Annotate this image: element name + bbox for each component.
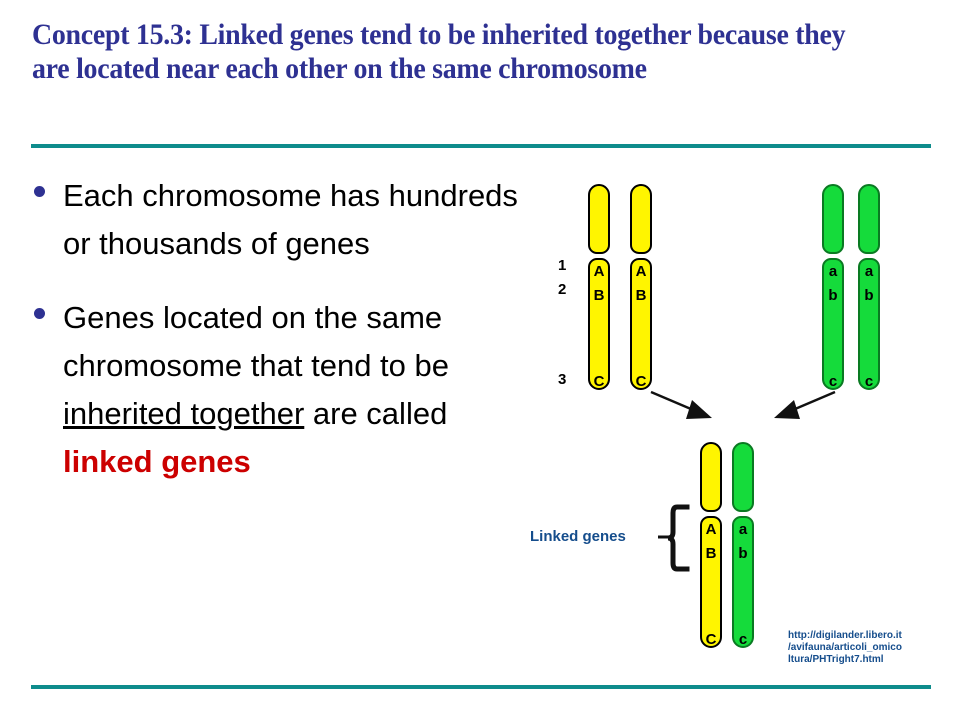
- bullet-dot-icon: [34, 186, 45, 197]
- position-number-3: 3: [558, 372, 566, 387]
- gene-label-C: C: [588, 374, 610, 389]
- gene-label-a: a: [732, 522, 754, 537]
- list-item: Genes located on the same chromosome tha…: [28, 294, 518, 486]
- list-item: Each chromosome has hundreds or thousand…: [28, 172, 518, 268]
- chromosome-short-arm: [700, 442, 722, 512]
- gene-label-b: b: [822, 288, 844, 303]
- bullet-2-text: Genes located on the same chromosome tha…: [63, 300, 449, 479]
- chromosome-short-arm: [630, 184, 652, 254]
- gene-label-A: A: [700, 522, 722, 537]
- position-number-2: 2: [558, 282, 566, 297]
- title-divider-rule: [31, 144, 931, 148]
- bullet-list: Each chromosome has hundreds or thousand…: [28, 172, 518, 512]
- bullet-2-underlined: inherited together: [63, 396, 304, 431]
- gene-label-A: A: [588, 264, 610, 279]
- bullet-2-part-1: Genes located on the same chromosome tha…: [63, 300, 449, 383]
- gene-label-b: b: [858, 288, 880, 303]
- bullet-2-part-2: are called: [304, 396, 447, 431]
- gene-label-c: c: [732, 632, 754, 647]
- slide-canvas: Concept 15.3: Linked genes tend to be in…: [0, 0, 960, 720]
- chromosome-short-arm: [822, 184, 844, 254]
- gene-label-C: C: [630, 374, 652, 389]
- gene-label-B: B: [630, 288, 652, 303]
- linked-genes-diagram: 1 2 3 A B C A B C a: [510, 160, 960, 680]
- credit-line-1: http://digilander.libero.it: [788, 630, 938, 642]
- gene-label-B: B: [700, 546, 722, 561]
- chromosome-short-arm: [858, 184, 880, 254]
- gene-label-c: c: [858, 374, 880, 389]
- chromosome-short-arm: [588, 184, 610, 254]
- gene-label-a: a: [822, 264, 844, 279]
- bullet-1-text: Each chromosome has hundreds or thousand…: [63, 178, 518, 261]
- credit-line-2: /avifauna/articoli_omico: [788, 642, 938, 654]
- gene-label-B: B: [588, 288, 610, 303]
- bullet-2-keyword: linked genes: [63, 444, 251, 479]
- footer-divider-rule: [31, 685, 931, 689]
- credit-line-3: ltura/PHTright7.html: [788, 654, 938, 666]
- linked-genes-connector-icon: [658, 533, 672, 541]
- page-title: Concept 15.3: Linked genes tend to be in…: [32, 18, 871, 86]
- position-number-1: 1: [558, 258, 566, 273]
- gene-label-a: a: [858, 264, 880, 279]
- gene-label-C: C: [700, 632, 722, 647]
- bullet-dot-icon: [34, 308, 45, 319]
- arrow-down-right-icon: [648, 388, 720, 426]
- chromosome-short-arm: [732, 442, 754, 512]
- gene-label-c: c: [822, 374, 844, 389]
- gene-label-b: b: [732, 546, 754, 561]
- gene-label-A: A: [630, 264, 652, 279]
- source-credit: http://digilander.libero.it /avifauna/ar…: [788, 630, 938, 666]
- arrow-down-left-icon: [766, 388, 838, 426]
- linked-genes-label: Linked genes: [530, 528, 626, 545]
